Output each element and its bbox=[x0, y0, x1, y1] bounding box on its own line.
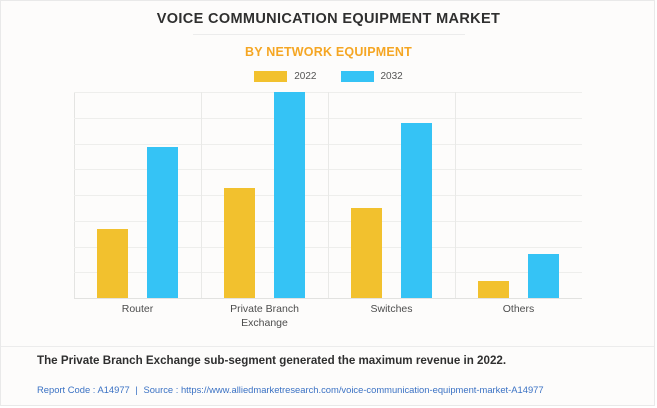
bar[interactable] bbox=[274, 92, 305, 298]
report-code: Report Code : A14977 bbox=[37, 384, 130, 395]
legend-item-2032[interactable]: 2032 bbox=[341, 71, 403, 82]
x-axis-label: Private BranchExchange bbox=[201, 302, 328, 330]
bar[interactable] bbox=[351, 208, 382, 298]
legend-label-2032: 2032 bbox=[381, 71, 403, 82]
legend-swatch-2032 bbox=[341, 71, 374, 82]
x-axis-label: Router bbox=[74, 302, 201, 316]
bar[interactable] bbox=[478, 281, 509, 298]
bar-group bbox=[328, 92, 455, 298]
x-axis-label: Switches bbox=[328, 302, 455, 316]
x-axis-label-line: Others bbox=[455, 302, 582, 316]
x-axis-label-line: Private Branch bbox=[201, 302, 328, 316]
bar[interactable] bbox=[147, 147, 178, 298]
bar[interactable] bbox=[224, 188, 255, 298]
bar-group bbox=[455, 92, 582, 298]
chart-legend: 2022 2032 bbox=[1, 71, 655, 82]
legend-label-2022: 2022 bbox=[294, 71, 316, 82]
axis-baseline bbox=[74, 298, 582, 299]
title-divider bbox=[193, 34, 465, 35]
bar-group bbox=[74, 92, 201, 298]
x-axis-label-line: Exchange bbox=[201, 316, 328, 330]
chart-card: VOICE COMMUNICATION EQUIPMENT MARKET BY … bbox=[0, 0, 655, 406]
x-axis-labels: RouterPrivate BranchExchangeSwitchesOthe… bbox=[74, 302, 582, 344]
plot-area bbox=[74, 92, 582, 298]
legend-swatch-2022 bbox=[254, 71, 287, 82]
x-axis-label-line: Switches bbox=[328, 302, 455, 316]
page-title: VOICE COMMUNICATION EQUIPMENT MARKET bbox=[1, 11, 655, 27]
x-axis-label-line: Router bbox=[74, 302, 201, 316]
source-separator: | bbox=[132, 384, 140, 395]
insight-text: The Private Branch Exchange sub-segment … bbox=[37, 354, 506, 367]
bar[interactable] bbox=[528, 254, 559, 298]
footer-divider bbox=[1, 346, 655, 347]
bar-group bbox=[201, 92, 328, 298]
chart-subtitle: BY NETWORK EQUIPMENT bbox=[1, 45, 655, 59]
x-axis-label: Others bbox=[455, 302, 582, 316]
source-line: Report Code : A14977 | Source : https://… bbox=[37, 384, 544, 395]
bar[interactable] bbox=[401, 123, 432, 298]
legend-item-2022[interactable]: 2022 bbox=[254, 71, 316, 82]
bar[interactable] bbox=[97, 229, 128, 298]
source-url[interactable]: Source : https://www.alliedmarketresearc… bbox=[143, 384, 543, 395]
